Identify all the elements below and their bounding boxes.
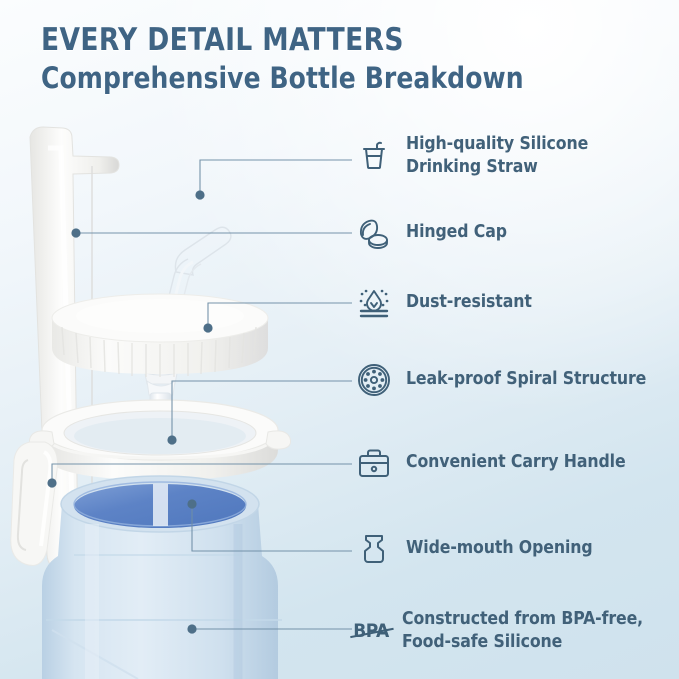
feature-label-leak-proof: Leak-proof Spiral Structure [406,368,646,391]
feature-item-bpa-free[interactable]: BPA Constructed from BPA-free, Food-safe… [349,608,643,655]
bpa-free-icon: BPA [349,612,393,650]
wide-mouth-bottle-body-part [42,476,282,679]
feature-item-leak-proof[interactable]: Leak-proof Spiral Structure [355,361,646,399]
dust-droplet-icon [355,284,393,322]
feature-item-hinged-cap[interactable]: Hinged Cap [355,214,507,252]
hinged-cap-icon [355,214,393,252]
feature-label-dust-resistant: Dust-resistant [406,291,532,314]
feature-item-wide-mouth[interactable]: Wide-mouth Opening [355,530,593,568]
page-title: EVERY DETAIL MATTERS [41,24,611,57]
infographic-canvas: EVERY DETAIL MATTERS Comprehensive Bottl… [0,0,679,679]
header-block: EVERY DETAIL MATTERS Comprehensive Bottl… [41,24,641,95]
feature-item-silicone-straw[interactable]: High-quality Silicone Drinking Straw [355,133,588,180]
wide-mouth-jar-icon [355,530,393,568]
ribbed-screw-cap-part [52,294,268,377]
bpa-free-icon-text: BPA [353,620,389,642]
feature-label-bpa-free: Constructed from BPA-free, Food-safe Sil… [402,608,643,655]
feature-item-carry-handle[interactable]: Convenient Carry Handle [355,444,626,482]
briefcase-handle-icon [355,444,393,482]
spiral-sealing-ring-part [29,400,290,480]
spiral-seal-icon [355,361,393,399]
product-illustration [0,100,330,679]
feature-label-carry-handle: Convenient Carry Handle [406,451,626,474]
cup-with-straw-icon [355,137,393,175]
page-subtitle: Comprehensive Bottle Breakdown [41,63,617,95]
feature-item-dust-resistant[interactable]: Dust-resistant [355,284,532,322]
feature-label-hinged-cap: Hinged Cap [406,221,507,244]
feature-label-wide-mouth: Wide-mouth Opening [406,537,593,560]
feature-label-silicone-straw: High-quality Silicone Drinking Straw [406,133,588,180]
